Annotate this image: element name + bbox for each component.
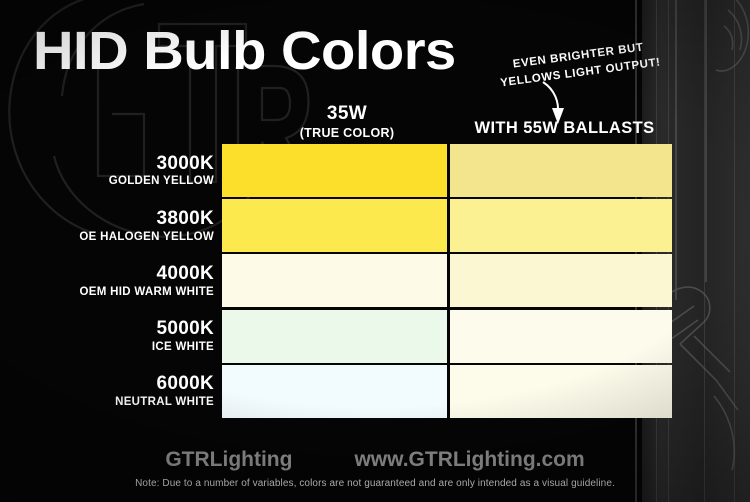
row-label-list: 3000K GOLDEN YELLOW 3800K OE HALOGEN YEL… [0, 144, 214, 420]
row-label: 3000K GOLDEN YELLOW [0, 144, 214, 197]
column-header-35w: 35W (TRUE COLOR) [272, 104, 422, 140]
row-label: 4000K OEM HID WARM WHITE [0, 254, 214, 307]
footer-disclaimer: Note: Due to a number of variables, colo… [0, 478, 750, 489]
column-header-55w-title: WITH 55W BALLASTS [452, 119, 677, 137]
row-label: 3800K OE HALOGEN YELLOW [0, 199, 214, 252]
footer-brand-name: GTRLighting [165, 448, 292, 472]
table-row [222, 254, 672, 307]
page-title: HID Bulb Colors [33, 24, 456, 78]
row-name: NEUTRAL WHITE [115, 396, 214, 408]
table-row [222, 310, 672, 363]
swatch-35w [222, 310, 447, 363]
row-name: ICE WHITE [152, 341, 214, 353]
row-kelvin: 5000K [157, 319, 215, 339]
color-swatch-table [222, 144, 672, 421]
table-row [222, 199, 672, 252]
footer-brand-row: GTRLighting www.GTRLighting.com [0, 448, 750, 472]
swatch-35w [222, 365, 447, 418]
swatch-55w [450, 199, 672, 252]
row-name: OEM HID WARM WHITE [80, 286, 214, 298]
swatch-55w [450, 310, 672, 363]
swatch-55w [450, 144, 672, 197]
table-row [222, 144, 672, 197]
row-label: 6000K NEUTRAL WHITE [0, 365, 214, 418]
row-name: OE HALOGEN YELLOW [79, 231, 214, 243]
hid-bulb-colors-poster: HID Bulb Colors EVEN BRIGHTER BUT YELLOW… [0, 0, 750, 502]
row-kelvin: 6000K [157, 374, 215, 394]
table-row [222, 365, 672, 418]
column-header-35w-subtitle: (TRUE COLOR) [272, 126, 422, 140]
row-kelvin: 3800K [157, 209, 215, 229]
swatch-55w [450, 254, 672, 307]
swatch-35w [222, 254, 447, 307]
swatch-35w [222, 199, 447, 252]
row-kelvin: 3000K [157, 154, 215, 174]
column-header-55w: WITH 55W BALLASTS [452, 119, 677, 137]
column-header-35w-title: 35W [272, 104, 422, 125]
swatch-35w [222, 144, 447, 197]
footer-website[interactable]: www.GTRLighting.com [354, 448, 584, 472]
row-kelvin: 4000K [157, 264, 215, 284]
swatch-55w [450, 365, 672, 418]
row-name: GOLDEN YELLOW [109, 175, 214, 187]
row-label: 5000K ICE WHITE [0, 310, 214, 363]
